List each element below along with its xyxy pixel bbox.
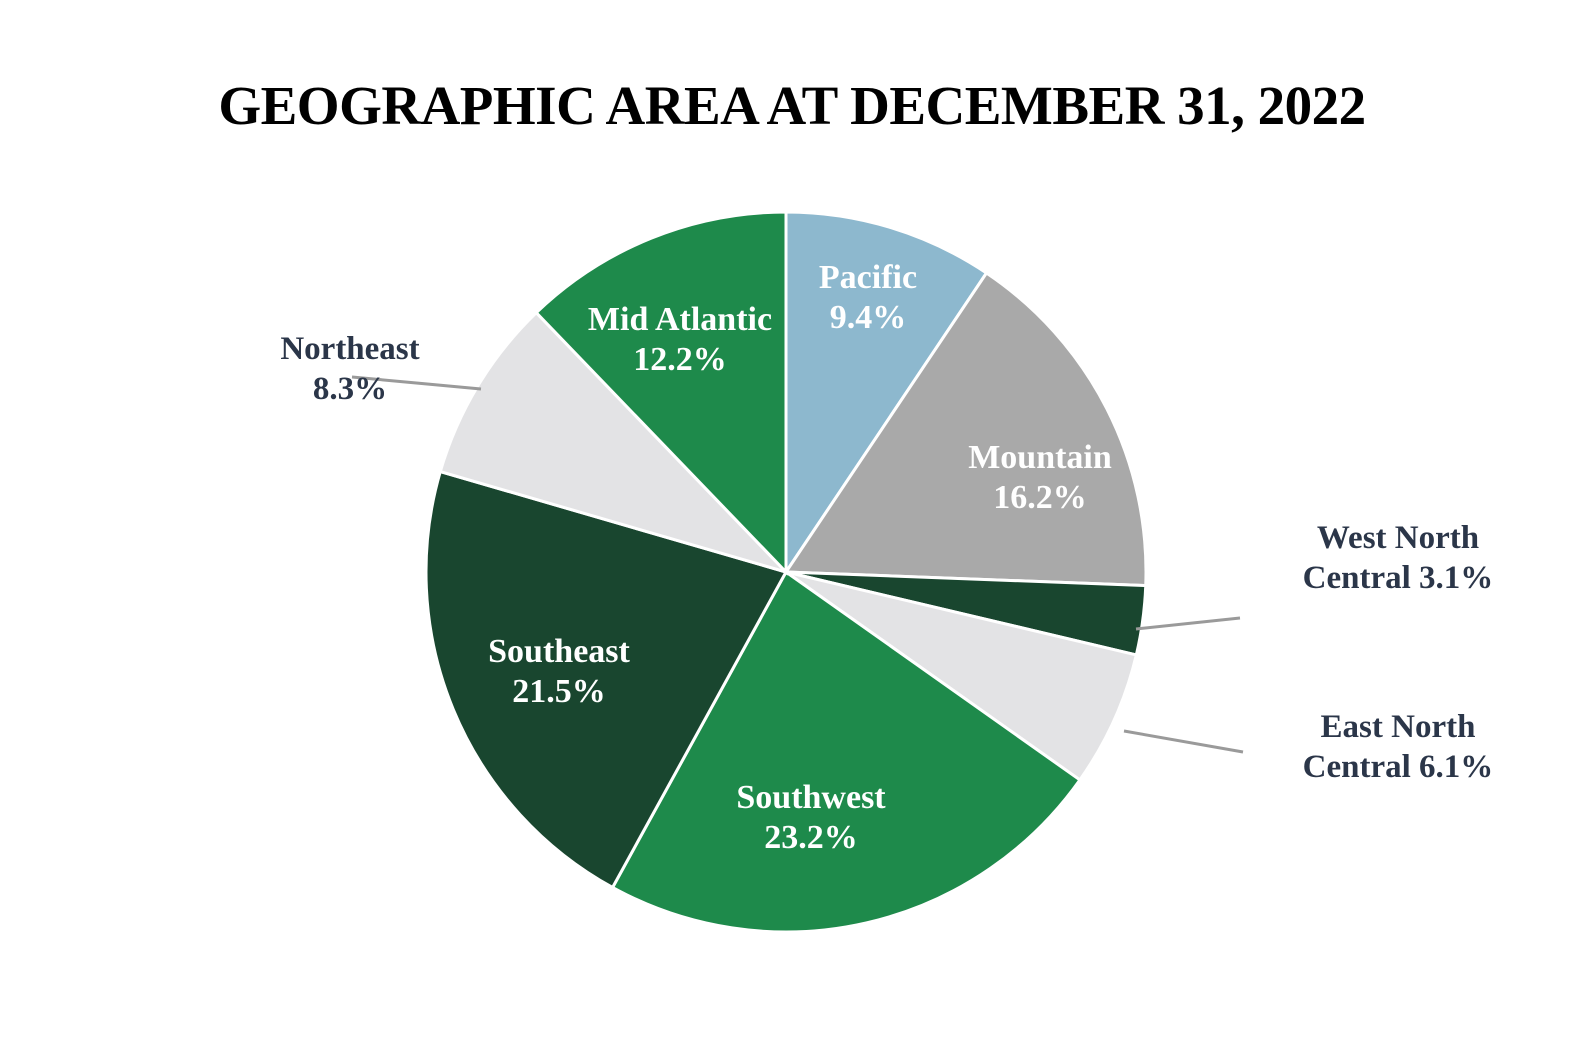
leader-line-west-north-central [1136,618,1240,629]
slice-label-northeast-name: Northeast [280,331,419,367]
slice-label-east-north-central-value: Central 6.1% [1238,748,1558,788]
slice-label-west-north-central: West North Central 3.1% [1238,519,1558,598]
slice-label-east-north-central: East North Central 6.1% [1238,708,1558,787]
pie-slices [426,212,1146,932]
leader-line-east-north-central [1124,731,1243,752]
pie-chart-figure: GEOGRAPHIC AREA AT DECEMBER 31, 2022 [0,0,1584,1056]
slice-label-northeast: Northeast 8.3% [200,330,500,409]
slice-label-northeast-value: 8.3% [200,370,500,410]
slice-label-east-north-central-name: East North [1321,709,1476,745]
slice-label-west-north-central-value: Central 3.1% [1238,559,1558,599]
slice-label-west-north-central-name: West North [1317,520,1479,556]
